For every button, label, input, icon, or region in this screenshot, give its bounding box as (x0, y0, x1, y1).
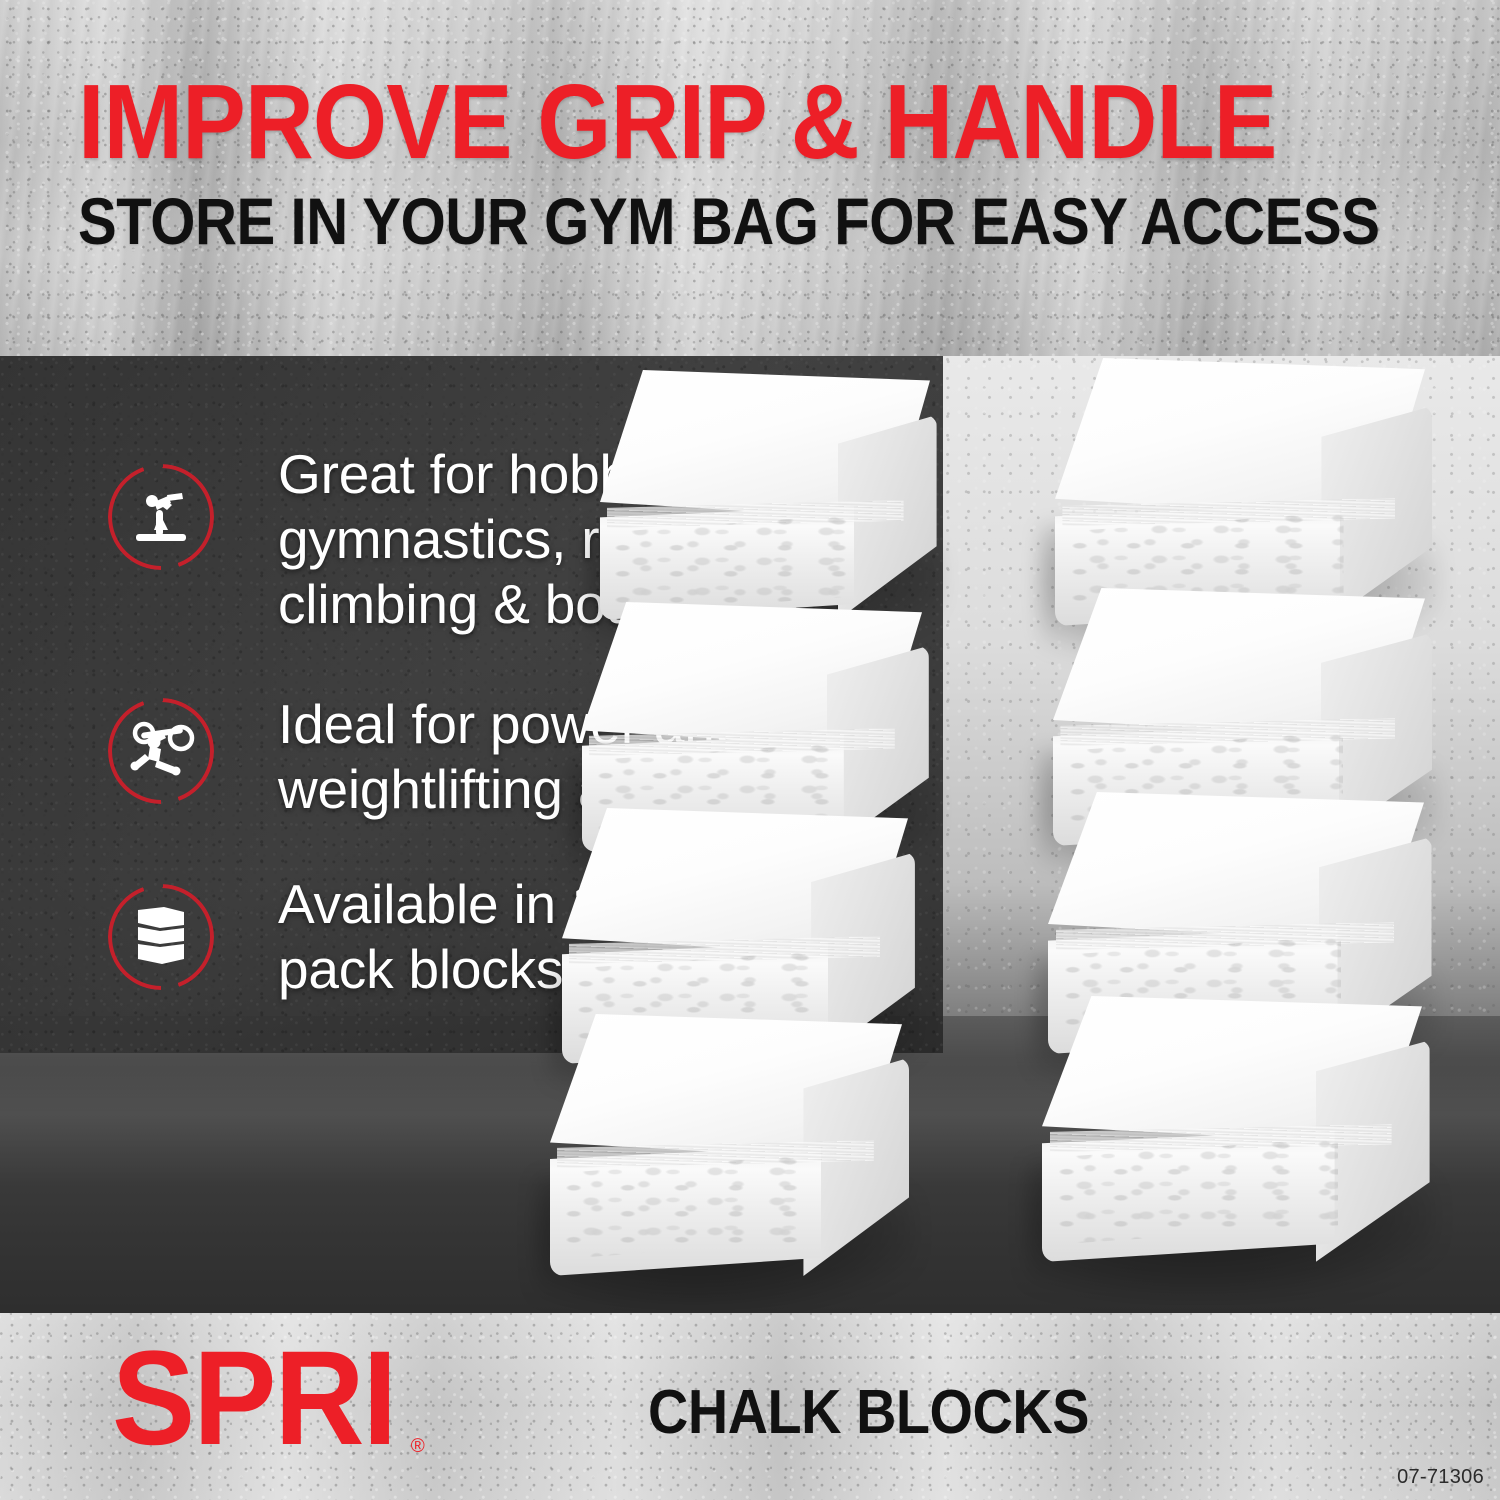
headline-primary: IMPROVE GRIP & HANDLE (78, 74, 1275, 172)
chalk-block (550, 1014, 902, 1276)
gymnast-handstand-icon (108, 464, 214, 570)
weightlifter-barbell-icon (108, 698, 214, 804)
icon-glyph (108, 884, 214, 990)
brand-logo: SPRI ® (112, 1332, 425, 1466)
registered-trademark-symbol: ® (411, 1436, 425, 1458)
icon-glyph (108, 464, 214, 570)
brand-logo-wordmark: SPRI (112, 1332, 395, 1466)
icon-glyph (108, 698, 214, 804)
chalk-block (600, 370, 930, 620)
product-feature-graphic: IMPROVE GRIP & HANDLE STORE IN YOUR GYM … (0, 0, 1500, 1500)
chalk-block (1042, 996, 1422, 1262)
product-name: CHALK BLOCKS (648, 1382, 1089, 1444)
chalk-block (1055, 358, 1425, 626)
headline-secondary: STORE IN YOUR GYM BAG FOR EASY ACCESS (78, 188, 1248, 254)
chalk-block-stack-icon (108, 884, 214, 990)
headline-group: IMPROVE GRIP & HANDLE STORE IN YOUR GYM … (78, 74, 1408, 254)
sku-code: 07-71306 (1397, 1466, 1484, 1489)
header-band: IMPROVE GRIP & HANDLE STORE IN YOUR GYM … (0, 0, 1500, 356)
